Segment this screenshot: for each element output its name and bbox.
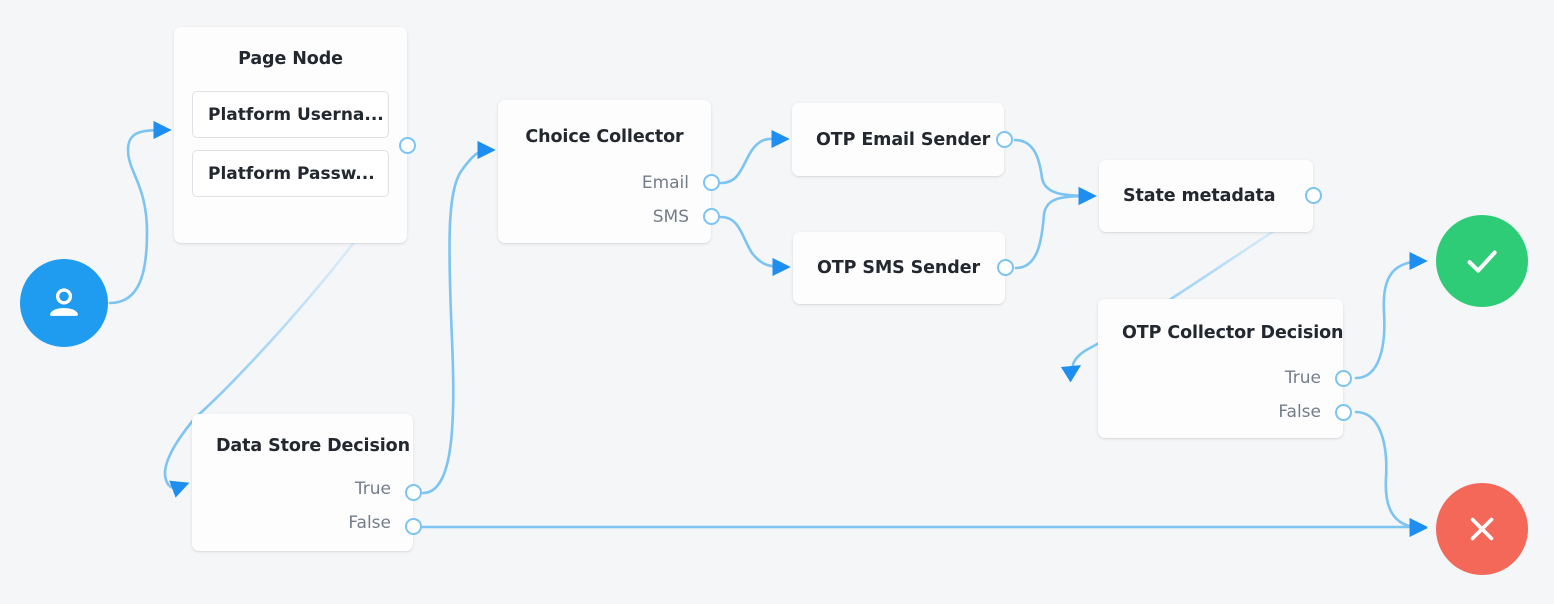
node-otp-sms-sender[interactable]: OTP SMS Sender [793, 232, 1005, 304]
output-port-labels: True False [1278, 361, 1321, 429]
user-icon [42, 281, 86, 325]
edge-page-to-datastore [165, 418, 195, 488]
port-label-false: False [1278, 395, 1321, 429]
success-node[interactable] [1436, 215, 1528, 307]
failure-node[interactable] [1436, 483, 1528, 575]
page-node-fields: Platform Userna... Platform Passw... [174, 91, 407, 197]
port-out-true[interactable] [1335, 370, 1352, 387]
node-page-node[interactable]: Page Node Platform Userna... Platform Pa… [174, 27, 407, 243]
close-icon [1461, 508, 1503, 550]
edge-choice-sms-to-otp-sms [721, 217, 787, 267]
field-platform-password[interactable]: Platform Passw... [192, 150, 389, 197]
edge-otp-sms-to-state [1016, 196, 1093, 268]
port-out-state-metadata[interactable] [1305, 187, 1322, 204]
port-out-false[interactable] [1335, 404, 1352, 421]
port-label-sms: SMS [642, 200, 689, 234]
edge-state-to-otp-decision [1073, 348, 1090, 368]
node-choice-collector[interactable]: Choice Collector Email SMS [498, 100, 711, 243]
port-out-email[interactable] [703, 174, 720, 191]
edge-choice-email-to-otp-email [721, 139, 786, 183]
node-title: OTP SMS Sender [793, 232, 1005, 304]
port-label-true: True [348, 472, 391, 506]
edge-start-to-page [110, 130, 168, 303]
port-out-sms[interactable] [703, 208, 720, 225]
port-label-email: Email [642, 166, 689, 200]
port-out-true[interactable] [405, 484, 422, 501]
port-label-false: False [348, 506, 391, 540]
node-title: Data Store Decision [192, 414, 413, 456]
node-otp-collector-decision[interactable]: OTP Collector Decision True False [1098, 299, 1343, 438]
port-label-true: True [1278, 361, 1321, 395]
node-state-metadata[interactable]: State metadata [1099, 160, 1313, 232]
edge-datastore-true-to-choice [423, 150, 492, 493]
port-out-otp-email-sender[interactable] [996, 131, 1013, 148]
node-otp-email-sender[interactable]: OTP Email Sender [792, 103, 1004, 176]
edge-otp-false-to-failure [1356, 412, 1424, 528]
node-title: Page Node [174, 27, 407, 69]
port-out-page-node[interactable] [399, 137, 416, 154]
output-port-labels: True False [348, 472, 391, 540]
node-title: OTP Collector Decision [1098, 299, 1343, 343]
field-platform-username[interactable]: Platform Userna... [192, 91, 389, 138]
edge-otp-true-to-success [1356, 261, 1424, 378]
node-title: OTP Email Sender [792, 103, 1004, 176]
node-title: State metadata [1099, 160, 1313, 232]
port-out-otp-sms-sender[interactable] [997, 259, 1014, 276]
port-out-false[interactable] [405, 518, 422, 535]
output-port-labels: Email SMS [642, 166, 689, 234]
flow-canvas[interactable]: Page Node Platform Userna... Platform Pa… [0, 0, 1554, 604]
node-data-store-decision[interactable]: Data Store Decision True False [192, 414, 413, 551]
edge-otp-email-to-state [1015, 140, 1093, 196]
start-node[interactable] [20, 259, 108, 347]
check-icon [1459, 238, 1505, 284]
node-title: Choice Collector [498, 100, 711, 147]
